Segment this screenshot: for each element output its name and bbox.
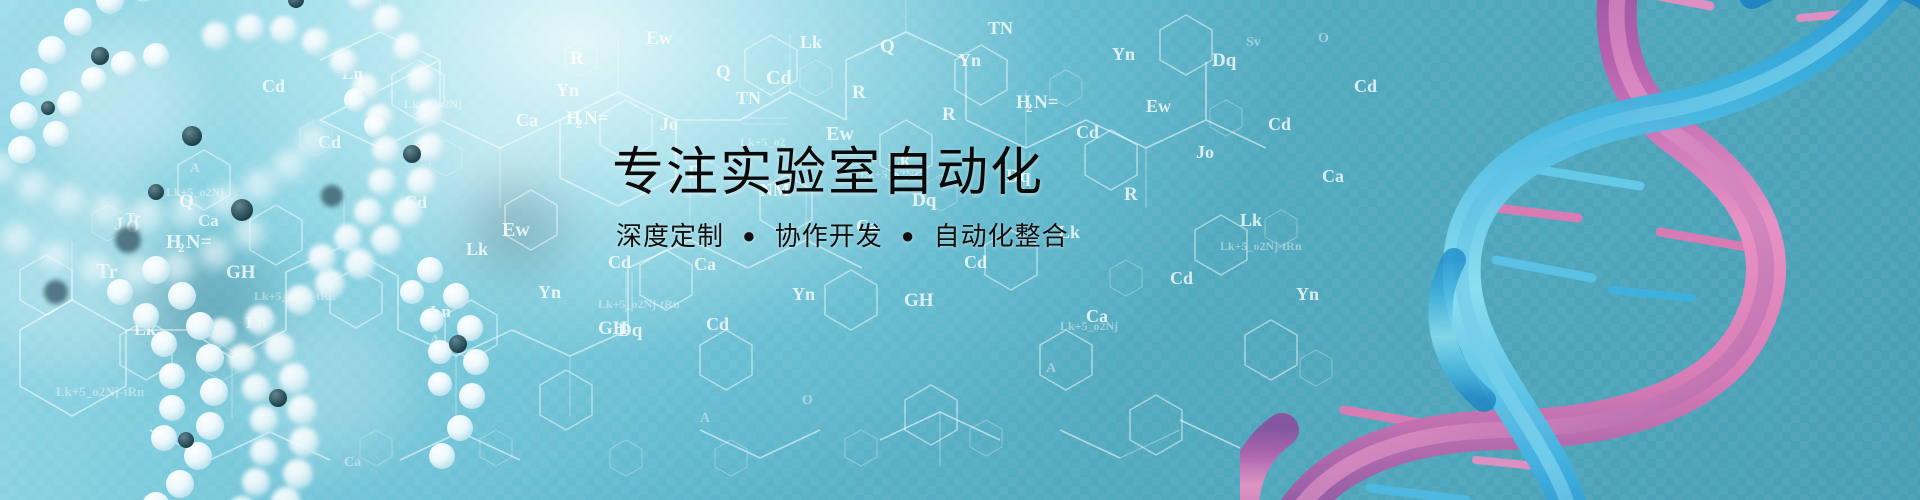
svg-text:Yn: Yn <box>1112 44 1135 64</box>
svg-text:Ew: Ew <box>826 123 854 145</box>
svg-text:Lk+5_o2Nj: Lk+5_o2Nj <box>1060 319 1118 333</box>
svg-text:Cd: Cd <box>766 67 792 89</box>
svg-text:GH: GH <box>904 290 934 311</box>
svg-text:TN: TN <box>736 88 761 108</box>
ribbon-dna-double-helix <box>1240 0 1920 500</box>
svg-text:O: O <box>802 393 813 408</box>
svg-text:A: A <box>1046 361 1057 376</box>
svg-text:2: 2 <box>1026 100 1033 115</box>
svg-text:Dq: Dq <box>1212 50 1237 71</box>
banner-headline: 专注实验室自动化 <box>612 146 1252 201</box>
svg-text:Cd: Cd <box>964 252 987 272</box>
lab-automation-banner: Tr J Tr O H 2 N= GH Q Lk Ca Cd Ln Cd Ln … <box>0 0 1920 500</box>
svg-text:Ew: Ew <box>1146 96 1171 116</box>
subtitle-item-2: 协作开发 <box>775 221 883 251</box>
svg-text:Yn: Yn <box>958 50 981 70</box>
subtitle-separator-icon: ● <box>901 223 915 249</box>
banner-subtitle: 深度定制 ● 协作开发 ● 自动化整合 <box>616 221 1252 252</box>
svg-text:R: R <box>852 82 866 103</box>
svg-text:TN: TN <box>988 18 1013 38</box>
svg-text:Q: Q <box>880 36 895 57</box>
svg-text:Yn: Yn <box>792 284 815 304</box>
svg-text:Cd: Cd <box>1076 122 1099 142</box>
svg-text:N=: N= <box>1034 92 1059 113</box>
banner-text-block: 专注实验室自动化 深度定制 ● 协作开发 ● 自动化整合 <box>612 146 1252 252</box>
svg-text:Cd: Cd <box>1170 268 1193 288</box>
svg-text:Lk: Lk <box>800 32 822 52</box>
subtitle-item-1: 深度定制 <box>616 221 724 251</box>
svg-text:R: R <box>942 104 956 125</box>
subtitle-separator-icon: ● <box>742 223 756 249</box>
subtitle-item-3: 自动化整合 <box>934 221 1069 251</box>
